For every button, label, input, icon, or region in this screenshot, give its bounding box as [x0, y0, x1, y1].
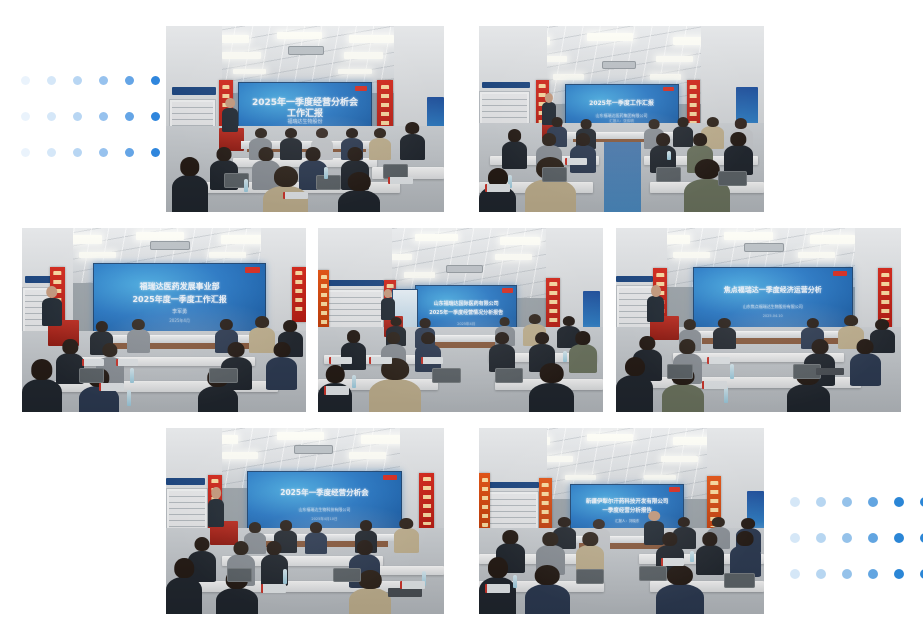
ceiling-light [233, 69, 266, 75]
table-nameplate [329, 357, 352, 364]
chair-back [639, 566, 668, 581]
table-nameplate [661, 558, 684, 565]
shelf-header-sign [488, 482, 539, 489]
audience-member [266, 357, 297, 390]
decorative-dot [894, 497, 904, 507]
ceiling-light [661, 456, 698, 463]
projection-screen: 焦点福瑞达一季度经济运营分析 山东焦点福瑞达生物股份有限公司 2025.04.1… [693, 267, 853, 331]
photo-collage-page: 2025年一季度经营分析会 工作汇报 福瑞达生物股份 山东省科学院中心 [0, 0, 923, 639]
ceiling-light [656, 56, 693, 63]
audience-member [127, 329, 150, 353]
chair-back [542, 167, 568, 182]
water-bottle [563, 351, 567, 362]
chair-back [79, 368, 105, 383]
audience-member-foreground [216, 588, 258, 614]
ceiling-light [673, 252, 710, 258]
screen-title-line2: 工作汇报 [239, 109, 370, 120]
chair-back [432, 368, 461, 383]
screen-subtitle: 山东福瑞达医药集团有限公司 [566, 113, 678, 118]
decorative-dot [99, 76, 108, 85]
decorative-dot [894, 569, 904, 579]
screen-title-line1: 山东福瑞达国际医药有限公司 [416, 301, 517, 307]
chair-back [495, 368, 524, 383]
ceiling-light [587, 434, 633, 441]
audience-member-foreground [338, 190, 380, 212]
decorative-dot [816, 497, 826, 507]
projector [602, 61, 636, 68]
shelf-header-sign [482, 82, 530, 89]
water-bottle [513, 575, 517, 588]
decorative-dot [842, 569, 852, 579]
audience-member-foreground [172, 175, 208, 212]
conference-photo-6: 2025年一季度经营分析会 山东福瑞达生物科技有限公司 2025年4月10日 [166, 428, 444, 614]
decorative-dot [21, 112, 30, 121]
audience-member [870, 329, 896, 353]
screen-title-line1: 焦点福瑞达一季度经济运营分析 [694, 286, 852, 295]
audience-member [713, 327, 736, 349]
screen-title-line2: 2025年一季度经营情况分析报告 [416, 310, 517, 316]
decorative-dot [47, 148, 56, 157]
chair-back [667, 364, 693, 379]
water-bottle [667, 151, 671, 160]
screen-subtitle: 山东焦点福瑞达生物股份有限公司 [694, 304, 852, 309]
screen-title-line1: 新疆伊犁尔汗药科技开发有限公司 [571, 499, 683, 506]
decorative-dot [151, 112, 160, 121]
screen-logo-tag [502, 288, 513, 293]
audience-member [249, 327, 275, 353]
decorative-dot [894, 533, 904, 543]
shelf-header-sign [616, 276, 653, 282]
decorative-dot [125, 76, 134, 85]
decorative-dot [868, 533, 878, 543]
decorative-dot [21, 76, 30, 85]
ceiling-light [277, 32, 321, 39]
screen-subtitle: 李军勇 [94, 309, 265, 315]
chair-back [209, 368, 237, 383]
table-nameplate [421, 357, 444, 364]
table-nameplate [485, 184, 511, 191]
screen-logo-tag [355, 86, 367, 91]
audience-member [850, 353, 881, 386]
screen-footer: 2025年4月10日 [248, 517, 402, 521]
audience-member-foreground [525, 179, 576, 212]
screen-logo-tag [383, 475, 397, 480]
screen-title-line2: 2025年度一季度工作汇报 [94, 295, 265, 305]
projector [288, 46, 324, 54]
projector [294, 445, 333, 454]
audience-member [569, 344, 598, 373]
decorative-dot [816, 569, 826, 579]
decorative-dot [73, 148, 82, 157]
projector [446, 265, 483, 273]
presenter [42, 298, 62, 326]
chair-back [724, 573, 755, 588]
audience-member-foreground [787, 384, 830, 412]
audience-member-foreground [22, 379, 62, 412]
screen-title-line1: 2025年一季度工作汇报 [566, 100, 678, 108]
ceiling-light [349, 452, 385, 459]
screen-subtitle: 山东福瑞达生物科技有限公司 [248, 507, 402, 512]
water-bottle [352, 375, 356, 388]
laptop [388, 588, 421, 597]
ceiling-light [349, 35, 393, 42]
ceiling-light [798, 252, 835, 258]
decorative-dot-grid-right [782, 484, 923, 592]
orange-banner [539, 478, 552, 534]
decorative-dot [73, 76, 82, 85]
ceiling-light [810, 235, 856, 243]
ceiling-light [644, 475, 675, 481]
presenter [647, 296, 664, 322]
screen-subtitle: 福瑞达生物股份 [239, 119, 370, 125]
screen-title-line2: 一季度经营分析报告 [571, 508, 683, 515]
audience-member [305, 532, 327, 554]
audience-member-foreground [616, 375, 653, 412]
table-nameplate [707, 357, 730, 364]
screen-footer: 2025.04.10 [694, 314, 852, 318]
decorative-dot [842, 533, 852, 543]
ceiling-light [136, 232, 184, 240]
water-bottle [130, 368, 134, 383]
screen-title-line1: 2025年一季度经营分析会 [248, 488, 402, 497]
ceiling-light [565, 475, 596, 481]
table-nameplate [565, 158, 588, 165]
presenter [208, 499, 225, 527]
chair-back [333, 568, 361, 583]
audience-member [696, 545, 725, 575]
decorative-dot [816, 533, 826, 543]
chair-back [227, 568, 252, 583]
table-nameplate [116, 359, 139, 366]
ceiling-light [222, 452, 258, 459]
ceiling-light [587, 33, 633, 40]
screen-subtitle: 汇报人：刘晓东 [571, 519, 683, 523]
decorative-dot [790, 533, 800, 543]
table-nameplate [283, 192, 308, 199]
audience-member-foreground [198, 386, 238, 412]
center-aisle [604, 141, 641, 212]
ceiling-light [338, 69, 371, 75]
water-bottle [244, 179, 248, 192]
chair-back [316, 175, 341, 190]
decorative-dot [125, 112, 134, 121]
shelf-header-sign [327, 280, 384, 286]
audience-member [341, 342, 367, 370]
audience-member-foreground [166, 577, 202, 614]
decorative-dot [868, 569, 878, 579]
red-banner [419, 473, 434, 533]
table-nameplate [324, 386, 350, 394]
table-nameplate [261, 584, 286, 592]
conference-photo-2: 2025年一季度工作汇报 山东福瑞达医药集团有限公司 汇报人：张伟明 [479, 26, 764, 212]
water-bottle [127, 390, 131, 407]
ceiling-light [221, 235, 266, 243]
decorative-dot [842, 497, 852, 507]
audience-member [400, 134, 425, 160]
shelf-header-sign [172, 87, 216, 94]
ceiling-light [222, 52, 261, 59]
water-bottle [283, 569, 287, 584]
orange-banner [318, 270, 329, 333]
table-nameplate [388, 177, 413, 184]
chair-back [656, 167, 682, 182]
screen-title-line1: 福瑞达医药发展事业部 [94, 282, 265, 292]
water-bottle [690, 551, 694, 562]
conference-photo-5: 焦点福瑞达一季度经济运营分析 山东焦点福瑞达生物股份有限公司 2025.04.1… [616, 228, 901, 412]
conference-photo-1: 2025年一季度经营分析会 工作汇报 福瑞达生物股份 山东省科学院中心 [166, 26, 444, 212]
screen-title-line1: 2025年一季度经营分析会 [239, 98, 370, 109]
ceiling-light [724, 232, 772, 240]
decorative-dot [47, 112, 56, 121]
audience-member-foreground [525, 584, 571, 614]
ceiling-light [415, 234, 458, 241]
projection-screen: 福瑞达医药发展事业部 2025年度一季度工作汇报 李军勇 2025年4月 [93, 263, 266, 335]
screen-logo-tag [669, 487, 680, 492]
table-nameplate [400, 581, 425, 589]
decorative-dot [99, 148, 108, 157]
conference-photo-4: 山东福瑞达国际医药有限公司 2025年一季度经营情况分析报告 2025年4月 [318, 228, 603, 412]
laptop [816, 368, 845, 375]
table-nameplate [82, 359, 105, 366]
decorative-dot [73, 112, 82, 121]
decorative-dot [790, 497, 800, 507]
audience-member-foreground [263, 186, 307, 212]
decorative-dot-grid-left [12, 62, 168, 170]
decorative-dot [868, 497, 878, 507]
ceiling-light [361, 435, 405, 443]
table-nameplate [485, 584, 511, 592]
audience-member-foreground [369, 379, 420, 412]
audience-member-foreground [349, 588, 391, 614]
audience-member [673, 126, 693, 146]
audience-member [280, 138, 302, 160]
projector [150, 241, 190, 250]
audience-table [372, 566, 444, 575]
projection-screen: 2025年一季度经营分析会 山东福瑞达生物科技有限公司 2025年4月10日 [247, 471, 403, 534]
water-bottle [324, 167, 328, 178]
chair-back [576, 569, 605, 584]
screen-footer: 2025年4月 [94, 318, 265, 323]
screen-logo-tag [833, 271, 847, 276]
decorative-dot [790, 569, 800, 579]
ceiling-light [404, 272, 435, 278]
screen-logo-tag [663, 87, 674, 91]
presenter-seated [644, 521, 664, 545]
ceiling-light [209, 252, 246, 258]
decorative-dot [151, 148, 160, 157]
ceiling-light [500, 237, 540, 244]
audience-member-foreground [662, 384, 705, 412]
ceiling-light [277, 432, 324, 440]
red-banner [292, 267, 306, 322]
water-bottle [730, 364, 734, 379]
presenter [222, 108, 239, 132]
table-nameplate [99, 383, 125, 391]
ceiling-light [553, 74, 584, 80]
audience-member [502, 141, 528, 169]
conference-photo-7: 新疆伊犁尔汗药科技开发有限公司 一季度经营分析报告 汇报人：刘晓东 [479, 428, 764, 614]
decorative-dot [47, 76, 56, 85]
decorative-dot [125, 148, 134, 157]
ceiling-light [344, 52, 383, 59]
ceiling-light [495, 254, 532, 260]
ceiling-light [79, 252, 116, 258]
decorative-dot [21, 148, 30, 157]
red-banner [546, 278, 560, 335]
audience-member [730, 545, 761, 577]
screen-logo-tag [245, 267, 260, 273]
audience-member [369, 138, 391, 160]
table-nameplate [702, 381, 728, 389]
audience-member-foreground [479, 577, 516, 614]
audience-member [394, 528, 419, 552]
chair-back [718, 171, 747, 186]
table-nameplate [369, 357, 392, 364]
audience-member-foreground [529, 383, 575, 412]
decorative-dot [151, 76, 160, 85]
audience-member-foreground [656, 584, 704, 614]
shelf-header-sign [166, 478, 205, 485]
orange-banner [479, 473, 490, 534]
projector [744, 243, 784, 252]
decorative-dot [99, 112, 108, 121]
ceiling-light [650, 74, 681, 80]
conference-photo-3: 福瑞达医药发展事业部 2025年度一季度工作汇报 李军勇 2025年4月 [22, 228, 306, 412]
